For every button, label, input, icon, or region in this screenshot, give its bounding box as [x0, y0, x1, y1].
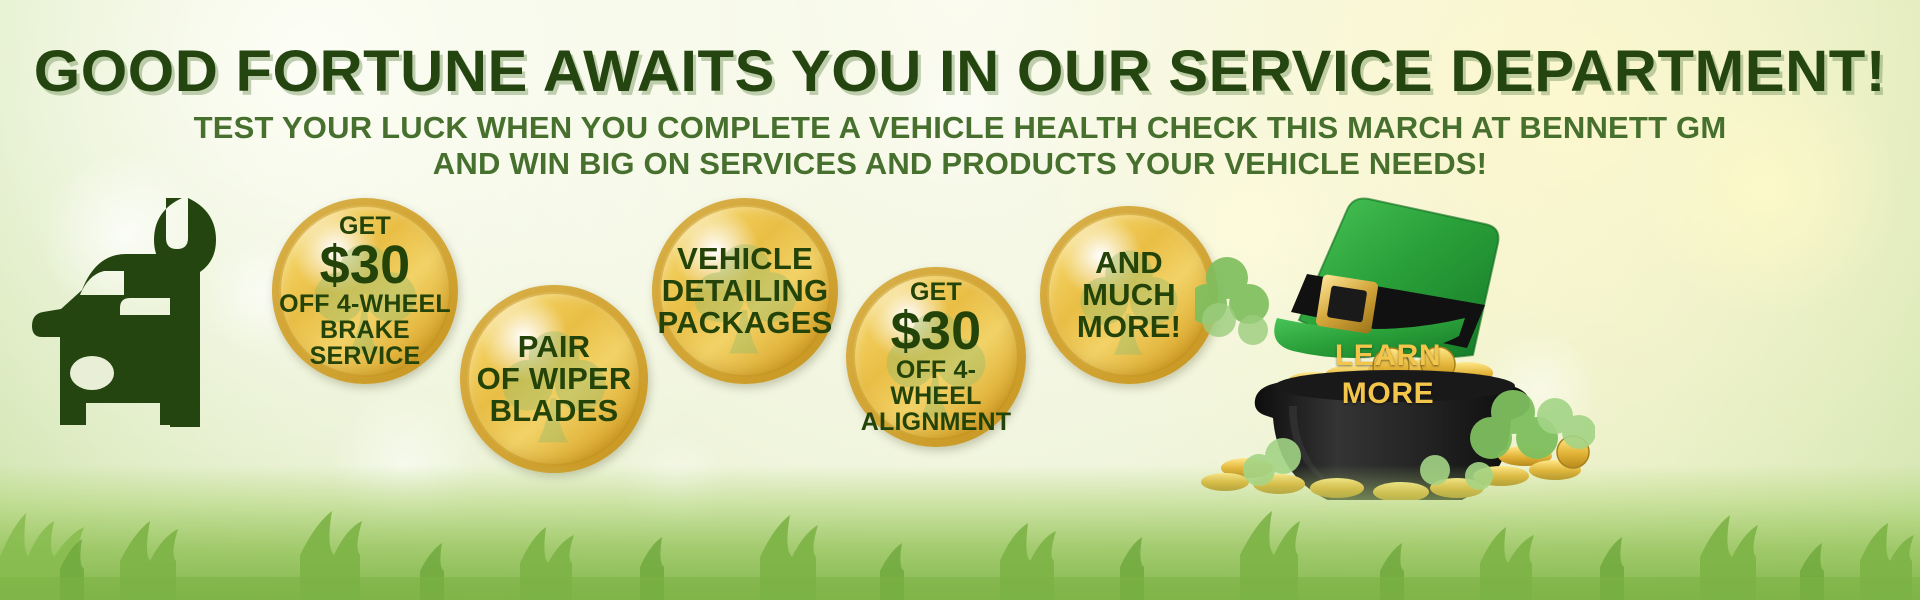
- coin-line-1: PAIR: [477, 331, 632, 363]
- offer-coin-text: VEHICLE DETAILING PACKAGES: [652, 243, 839, 340]
- hat-buckle: [1315, 274, 1378, 334]
- coin-line-3: PACKAGES: [658, 307, 833, 339]
- coin-line-3: ALIGNMENT: [852, 409, 1020, 435]
- coin-line-2: OFF 4-WHEEL: [852, 357, 1020, 409]
- coin-amount: $30: [852, 305, 1020, 358]
- coin-line-2: DETAILING: [658, 275, 833, 307]
- coin-amount: $30: [279, 239, 451, 292]
- coin-line-2: OFF 4-WHEEL: [279, 291, 451, 317]
- cta-line-2: MORE: [1288, 375, 1488, 413]
- offer-coin-more[interactable]: AND MUCH MORE!: [1040, 206, 1218, 384]
- car-wrench-icon: [30, 195, 240, 430]
- pot-of-gold-icon[interactable]: [1195, 170, 1595, 500]
- offer-coin-text: AND MUCH MORE!: [1071, 247, 1187, 344]
- offer-coin-alignment[interactable]: GET $30 OFF 4-WHEEL ALIGNMENT: [846, 267, 1026, 447]
- learn-more-cta-label[interactable]: LEARN MORE: [1288, 337, 1488, 413]
- cta-line-1: LEARN: [1288, 337, 1488, 375]
- coin-line-3: BLADES: [477, 395, 632, 427]
- subheading-line-1: TEST YOUR LUCK WHEN YOU COMPLETE A VEHIC…: [0, 110, 1920, 146]
- coin-line-2: MUCH: [1077, 279, 1181, 311]
- coin-line-1: AND: [1077, 247, 1181, 279]
- grass-strip: [0, 465, 1920, 600]
- coin-line-4: SERVICE: [279, 343, 451, 369]
- leprechaun-hat: [1274, 198, 1498, 358]
- subheading-line-2: AND WIN BIG ON SERVICES AND PRODUCTS YOU…: [0, 146, 1920, 182]
- coin-line-3: BRAKE: [279, 317, 451, 343]
- coin-line-1: VEHICLE: [658, 243, 833, 275]
- offer-coin-brake[interactable]: GET $30 OFF 4-WHEEL BRAKE SERVICE: [272, 198, 458, 384]
- headline: GOOD FORTUNE AWAITS YOU IN OUR SERVICE D…: [0, 38, 1920, 105]
- subheading: TEST YOUR LUCK WHEN YOU COMPLETE A VEHIC…: [0, 110, 1920, 182]
- offer-coin-wipers[interactable]: PAIR OF WIPER BLADES: [460, 285, 648, 473]
- offer-coin-text: GET $30 OFF 4-WHEEL ALIGNMENT: [846, 279, 1026, 436]
- offer-coin-text: PAIR OF WIPER BLADES: [471, 331, 638, 428]
- offer-coin-text: GET $30 OFF 4-WHEEL BRAKE SERVICE: [273, 213, 457, 370]
- promo-banner: GOOD FORTUNE AWAITS YOU IN OUR SERVICE D…: [0, 0, 1920, 600]
- coin-line-3: MORE!: [1077, 311, 1181, 343]
- offer-coin-detailing[interactable]: VEHICLE DETAILING PACKAGES: [652, 198, 838, 384]
- coin-line-2: OF WIPER: [477, 363, 632, 395]
